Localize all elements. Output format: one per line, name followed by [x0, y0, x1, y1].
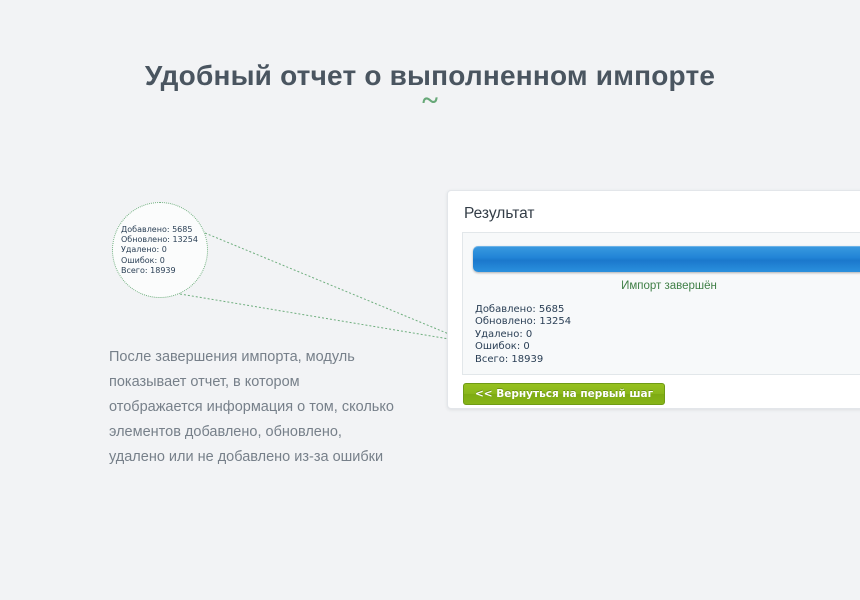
magnifier-stat-deleted: Удалено: 0	[121, 245, 198, 255]
result-stats-list: Добавлено: 5685 Обновлено: 13254 Удалено…	[475, 304, 571, 366]
magnifier-stat-total: Всего: 18939	[121, 266, 198, 276]
result-stat-total: Всего: 18939	[475, 354, 571, 366]
result-panel-heading: Результат	[464, 205, 535, 223]
result-stat-added: Добавлено: 5685	[475, 304, 571, 316]
import-progress-fill	[473, 246, 860, 272]
magnifier-callout: Добавлено: 5685 Обновлено: 13254 Удалено…	[112, 202, 208, 298]
result-stat-errors: Ошибок: 0	[475, 341, 571, 353]
connector-line-upper	[205, 233, 461, 339]
result-stat-deleted: Удалено: 0	[475, 329, 571, 341]
magnifier-stat-added: Добавлено: 5685	[121, 225, 198, 235]
callout-description: После завершения импорта, модуль показыв…	[109, 345, 394, 470]
result-inner-box: Импорт завершён Добавлено: 5685 Обновлен…	[462, 232, 860, 375]
magnifier-stats-list: Добавлено: 5685 Обновлено: 13254 Удалено…	[121, 225, 198, 276]
tilde-separator: ~	[0, 86, 860, 116]
connector-line-lower	[180, 294, 461, 341]
result-panel: Результат Импорт завершён Добавлено: 568…	[447, 190, 860, 409]
magnifier-stat-errors: Ошибок: 0	[121, 256, 198, 266]
page-root: Удобный отчет о выполненном импорте ~ До…	[0, 0, 860, 600]
import-progress-bar	[473, 246, 860, 272]
result-stat-updated: Обновлено: 13254	[475, 316, 571, 328]
back-to-first-step-button[interactable]: << Вернуться на первый шаг	[463, 383, 665, 405]
magnifier-stat-updated: Обновлено: 13254	[121, 235, 198, 245]
import-status-text: Импорт завершён	[463, 280, 860, 292]
